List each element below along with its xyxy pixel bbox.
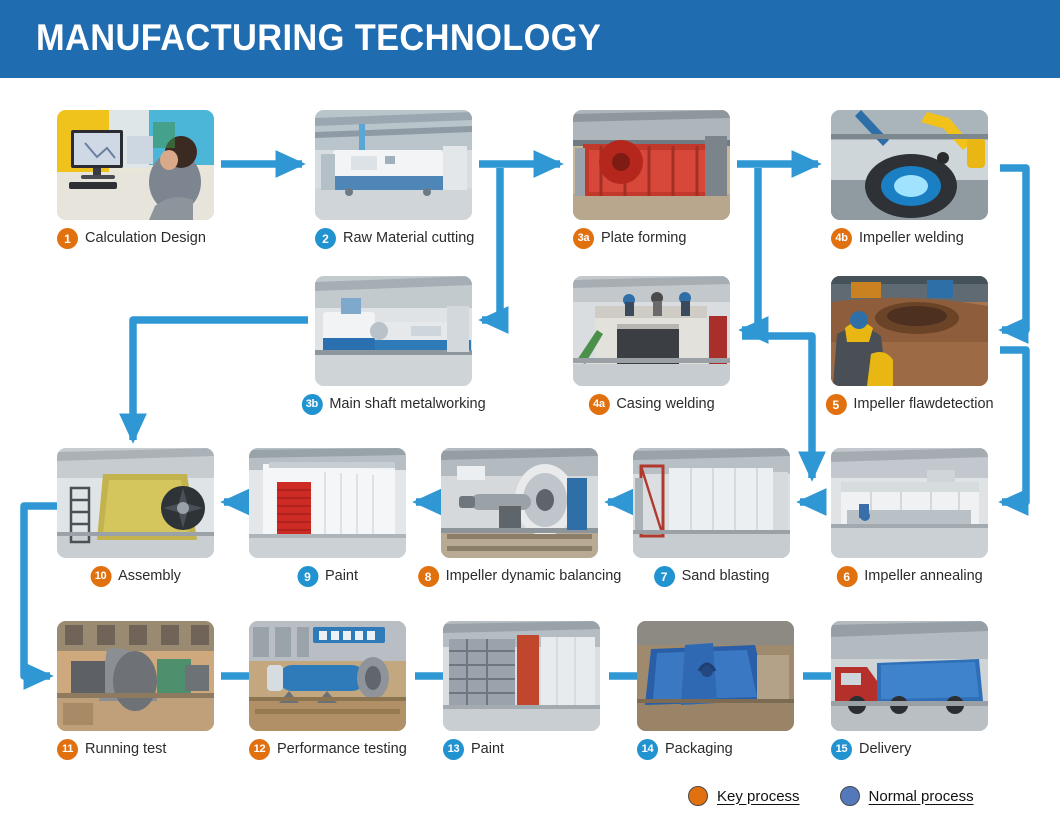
thumbnail-casing-welding[interactable] — [573, 276, 730, 386]
thumbnail-running-test[interactable] — [57, 621, 214, 731]
process-step-6[interactable]: 6 Impeller annealing — [831, 448, 988, 558]
badge-step-8: 8 — [418, 566, 439, 587]
caption-step-10: 10 Assembly — [90, 566, 181, 587]
caption-step-11: 11 Running test — [57, 739, 166, 760]
process-step-12[interactable]: 12 Performance testing — [249, 621, 406, 731]
label-step-3b: Main shaft metalworking — [329, 394, 485, 415]
caption-step-6: 6 Impeller annealing — [836, 566, 983, 587]
arrow-2-to-3b — [482, 168, 500, 320]
label-step-15: Delivery — [859, 739, 911, 760]
page-title: MANUFACTURING TECHNOLOGY — [36, 16, 601, 60]
thumbnail-impeller-dynamic-balancing[interactable] — [441, 448, 598, 558]
page-header: MANUFACTURING TECHNOLOGY — [0, 0, 1060, 78]
manufacturing-technology-flowchart: MANUFACTURING TECHNOLOGY — [0, 0, 1060, 832]
thumbnail-sand-blasting[interactable] — [633, 448, 790, 558]
process-step-2[interactable]: 2 Raw Material cutting — [315, 110, 472, 220]
badge-step-3a: 3a — [573, 228, 594, 249]
thumbnail-impeller-welding[interactable] — [831, 110, 988, 220]
arrow-10-to-11 — [24, 506, 57, 676]
label-step-6: Impeller annealing — [864, 566, 983, 587]
thumbnail-impeller-annealing[interactable] — [831, 448, 988, 558]
badge-step-14: 14 — [637, 739, 658, 760]
legend-item-normal-process: Normal process — [840, 786, 974, 806]
caption-step-4a: 4a Casing welding — [588, 394, 714, 415]
caption-step-7: 7 Sand blasting — [654, 566, 770, 587]
label-step-13: Paint — [471, 739, 504, 760]
caption-step-1: 1 Calculation Design — [57, 228, 206, 249]
badge-step-4b: 4b — [831, 228, 852, 249]
badge-step-6: 6 — [836, 566, 857, 587]
label-step-1: Calculation Design — [85, 228, 206, 249]
process-step-3b[interactable]: 3b Main shaft metalworking — [315, 276, 472, 386]
legend-item-key-process: Key process — [688, 786, 800, 806]
thumbnail-paint-booth[interactable] — [249, 448, 406, 558]
thumbnail-assembly[interactable] — [57, 448, 214, 558]
process-step-4a[interactable]: 4a Casing welding — [573, 276, 730, 386]
thumbnail-paint-hall[interactable] — [443, 621, 600, 731]
legend-label-key-process: Key process — [717, 788, 800, 805]
process-step-10[interactable]: 10 Assembly — [57, 448, 214, 558]
caption-step-12: 12 Performance testing — [249, 739, 407, 760]
thumbnail-main-shaft-metalworking[interactable] — [315, 276, 472, 386]
label-step-12: Performance testing — [277, 739, 407, 760]
badge-step-4a: 4a — [588, 394, 609, 415]
process-step-4b[interactable]: 4b Impeller welding — [831, 110, 988, 220]
badge-step-15: 15 — [831, 739, 852, 760]
badge-step-11: 11 — [57, 739, 78, 760]
thumbnail-calculation-design[interactable] — [57, 110, 214, 220]
caption-step-5: 5 Impeller flawdetection — [825, 394, 993, 415]
process-step-14[interactable]: 14 Packaging — [637, 621, 794, 731]
process-step-9[interactable]: 9 Paint — [249, 448, 406, 558]
thumbnail-plate-forming[interactable] — [573, 110, 730, 220]
process-step-13[interactable]: 13 Paint — [443, 621, 600, 731]
process-step-3a[interactable]: 3a Plate forming — [573, 110, 730, 220]
badge-step-7: 7 — [654, 566, 675, 587]
arrow-5-to-6 — [1000, 350, 1026, 502]
thumbnail-packaging[interactable] — [637, 621, 794, 731]
legend-label-normal-process: Normal process — [869, 788, 974, 805]
badge-step-3b: 3b — [301, 394, 322, 415]
label-step-2: Raw Material cutting — [343, 228, 474, 249]
caption-step-2: 2 Raw Material cutting — [315, 228, 474, 249]
process-step-5[interactable]: 5 Impeller flawdetection — [831, 276, 988, 386]
badge-step-10: 10 — [90, 566, 111, 587]
caption-step-3b: 3b Main shaft metalworking — [301, 394, 485, 415]
badge-step-13: 13 — [443, 739, 464, 760]
thumbnail-delivery[interactable] — [831, 621, 988, 731]
badge-step-1: 1 — [57, 228, 78, 249]
label-step-4b: Impeller welding — [859, 228, 964, 249]
thumbnail-performance-testing[interactable] — [249, 621, 406, 731]
process-step-1[interactable]: 1 Calculation Design — [57, 110, 214, 220]
label-step-9: Paint — [325, 566, 358, 587]
label-step-5: Impeller flawdetection — [853, 394, 993, 415]
badge-step-2: 2 — [315, 228, 336, 249]
caption-step-3a: 3a Plate forming — [573, 228, 686, 249]
caption-step-14: 14 Packaging — [637, 739, 733, 760]
normal-process-dot-icon — [840, 786, 860, 806]
label-step-14: Packaging — [665, 739, 733, 760]
badge-step-5: 5 — [825, 394, 846, 415]
arrow-3a-to-4a — [742, 168, 758, 330]
legend: Key process Normal process — [688, 786, 974, 806]
badge-step-9: 9 — [297, 566, 318, 587]
caption-step-13: 13 Paint — [443, 739, 504, 760]
thumbnail-raw-material-cutting[interactable] — [315, 110, 472, 220]
arrow-3b-to-10 — [133, 320, 308, 440]
process-step-8[interactable]: 8 Impeller dynamic balancing — [441, 448, 598, 558]
label-step-4a: Casing welding — [616, 394, 714, 415]
caption-step-9: 9 Paint — [297, 566, 358, 587]
caption-step-15: 15 Delivery — [831, 739, 911, 760]
key-process-dot-icon — [688, 786, 708, 806]
arrow-4b-to-5 — [1000, 168, 1026, 330]
caption-step-4b: 4b Impeller welding — [831, 228, 964, 249]
thumbnail-impeller-flawdetection[interactable] — [831, 276, 988, 386]
badge-step-12: 12 — [249, 739, 270, 760]
process-step-11[interactable]: 11 Running test — [57, 621, 214, 731]
caption-step-8: 8 Impeller dynamic balancing — [418, 566, 622, 587]
label-step-7: Sand blasting — [682, 566, 770, 587]
label-step-8: Impeller dynamic balancing — [446, 566, 622, 587]
label-step-11: Running test — [85, 739, 166, 760]
process-step-15[interactable]: 15 Delivery — [831, 621, 988, 731]
process-step-7[interactable]: 7 Sand blasting — [633, 448, 790, 558]
label-step-10: Assembly — [118, 566, 181, 587]
label-step-3a: Plate forming — [601, 228, 686, 249]
